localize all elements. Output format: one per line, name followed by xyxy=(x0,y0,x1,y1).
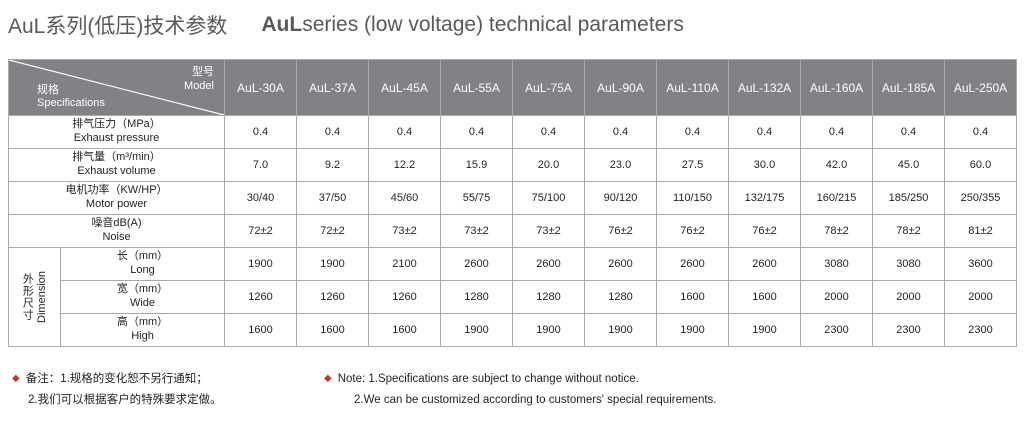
cell-value: 0.4 xyxy=(873,116,945,149)
cell-value: 45.0 xyxy=(873,149,945,182)
cell-value: 0.4 xyxy=(513,116,585,149)
cell-value: 1900 xyxy=(441,314,513,347)
cell-value: 1600 xyxy=(729,281,801,314)
cell-value: 1900 xyxy=(729,314,801,347)
row-label-width: 宽（mm） Wide xyxy=(61,281,225,314)
cell-value: 20.0 xyxy=(513,149,585,182)
cell-value: 2600 xyxy=(729,248,801,281)
column-header-model: AuL-45A xyxy=(369,60,441,116)
cell-value: 1900 xyxy=(657,314,729,347)
column-header-model: AuL-250A xyxy=(945,60,1017,116)
cell-value: 72±2 xyxy=(297,215,369,248)
cell-value: 1260 xyxy=(225,281,297,314)
cell-value: 30/40 xyxy=(225,182,297,215)
cell-value: 12.2 xyxy=(369,149,441,182)
spec-table: 型号 Model 规格 Specifications AuL-30A AuL-3… xyxy=(8,59,1017,347)
cell-value: 1900 xyxy=(297,248,369,281)
column-header-model: AuL-185A xyxy=(873,60,945,116)
note-line: ◆ Note: 1.Specifications are subject to … xyxy=(324,369,1014,390)
cell-value: 73±2 xyxy=(513,215,585,248)
table-body: 排气压力（MPa） Exhaust pressure 0.4 0.4 0.4 0… xyxy=(9,116,1017,347)
cell-value: 2600 xyxy=(513,248,585,281)
cell-value: 72±2 xyxy=(225,215,297,248)
page-root: AuL系列(低压)技术参数 AuLseries (low voltage) te… xyxy=(0,0,1024,431)
notes-chinese: ◆ 备注：1.规格的变化恕不另行通知； 2.我们可以根据客户的特殊要求定做。 xyxy=(12,369,312,412)
bullet-icon: ◆ xyxy=(12,369,20,388)
page-title-en: AuLseries (low voltage) technical parame… xyxy=(261,13,684,37)
cell-value: 110/150 xyxy=(657,182,729,215)
cell-value: 2100 xyxy=(369,248,441,281)
column-header-model: AuL-55A xyxy=(441,60,513,116)
notes-english: ◆ Note: 1.Specifications are subject to … xyxy=(324,369,1014,412)
note-line: 2.我们可以根据客户的特殊要求定做。 xyxy=(12,390,312,411)
cell-value: 42.0 xyxy=(801,149,873,182)
table-row: 噪音dB(A) Noise 72±2 72±2 73±2 73±2 73±2 7… xyxy=(9,215,1017,248)
table-row: 排气压力（MPa） Exhaust pressure 0.4 0.4 0.4 0… xyxy=(9,116,1017,149)
page-title-en-rest: series (low voltage) technical parameter… xyxy=(302,13,684,36)
table-header: 型号 Model 规格 Specifications AuL-30A AuL-3… xyxy=(9,60,1017,116)
cell-value: 76±2 xyxy=(585,215,657,248)
cell-value: 1260 xyxy=(369,281,441,314)
cell-value: 9.2 xyxy=(297,149,369,182)
table-row: 高（mm） High 1600 1600 1600 1900 1900 1900… xyxy=(9,314,1017,347)
cell-value: 78±2 xyxy=(873,215,945,248)
cell-value: 30.0 xyxy=(729,149,801,182)
cell-value: 75/100 xyxy=(513,182,585,215)
cell-value: 0.4 xyxy=(729,116,801,149)
cell-value: 1600 xyxy=(297,314,369,347)
cell-value: 45/60 xyxy=(369,182,441,215)
cell-value: 3600 xyxy=(945,248,1017,281)
row-label-exhaust-volume: 排气量（m³/min） Exhaust volume xyxy=(9,149,225,182)
cell-value: 2300 xyxy=(945,314,1017,347)
column-header-model: AuL-30A xyxy=(225,60,297,116)
spec-table-wrap: 型号 Model 规格 Specifications AuL-30A AuL-3… xyxy=(8,59,1016,347)
cell-value: 90/120 xyxy=(585,182,657,215)
cell-value: 132/175 xyxy=(729,182,801,215)
cell-value: 15.9 xyxy=(441,149,513,182)
row-label-exhaust-pressure: 排气压力（MPa） Exhaust pressure xyxy=(9,116,225,149)
cell-value: 3080 xyxy=(801,248,873,281)
cell-value: 1280 xyxy=(513,281,585,314)
cell-value: 23.0 xyxy=(585,149,657,182)
column-header-model: AuL-75A xyxy=(513,60,585,116)
cell-value: 55/75 xyxy=(441,182,513,215)
note-line: ◆ 备注：1.规格的变化恕不另行通知； xyxy=(12,369,312,390)
cell-value: 2000 xyxy=(873,281,945,314)
row-label-motor-power: 电机功率（KW/HP） Motor power xyxy=(9,182,225,215)
cell-value: 81±2 xyxy=(945,215,1017,248)
cell-value: 3080 xyxy=(873,248,945,281)
cell-value: 1600 xyxy=(369,314,441,347)
column-header-model: AuL-110A xyxy=(657,60,729,116)
cell-value: 1600 xyxy=(225,314,297,347)
cell-value: 60.0 xyxy=(945,149,1017,182)
row-label-height: 高（mm） High xyxy=(61,314,225,347)
cell-value: 27.5 xyxy=(657,149,729,182)
cell-value: 0.4 xyxy=(585,116,657,149)
column-header-model: AuL-132A xyxy=(729,60,801,116)
bullet-icon: ◆ xyxy=(324,369,332,388)
cell-value: 0.4 xyxy=(369,116,441,149)
table-row: 宽（mm） Wide 1260 1260 1260 1280 1280 1280… xyxy=(9,281,1017,314)
column-header-model: AuL-160A xyxy=(801,60,873,116)
table-row: 电机功率（KW/HP） Motor power 30/40 37/50 45/6… xyxy=(9,182,1017,215)
cell-value: 0.4 xyxy=(225,116,297,149)
cell-value: 1260 xyxy=(297,281,369,314)
cell-value: 1900 xyxy=(513,314,585,347)
cell-value: 1280 xyxy=(585,281,657,314)
cell-value: 2600 xyxy=(585,248,657,281)
page-title-cn: AuL系列(低压)技术参数 xyxy=(8,10,227,40)
cell-value: 0.4 xyxy=(657,116,729,149)
cell-value: 37/50 xyxy=(297,182,369,215)
column-header-model: AuL-90A xyxy=(585,60,657,116)
cell-value: 1600 xyxy=(657,281,729,314)
cell-value: 1900 xyxy=(225,248,297,281)
cell-value: 73±2 xyxy=(369,215,441,248)
cell-value: 76±2 xyxy=(729,215,801,248)
cell-value: 2300 xyxy=(873,314,945,347)
cell-value: 0.4 xyxy=(441,116,513,149)
cell-value: 0.4 xyxy=(945,116,1017,149)
cell-value: 250/355 xyxy=(945,182,1017,215)
cell-value: 0.4 xyxy=(801,116,873,149)
cell-value: 185/250 xyxy=(873,182,945,215)
cell-value: 2600 xyxy=(657,248,729,281)
cell-value: 2600 xyxy=(441,248,513,281)
cell-value: 73±2 xyxy=(441,215,513,248)
page-title: AuL系列(低压)技术参数 AuLseries (low voltage) te… xyxy=(8,8,1016,42)
page-title-en-lead: AuL xyxy=(261,13,302,36)
cell-value: 160/215 xyxy=(801,182,873,215)
cell-value: 76±2 xyxy=(657,215,729,248)
cell-value: 1280 xyxy=(441,281,513,314)
row-label-noise: 噪音dB(A) Noise xyxy=(9,215,225,248)
cell-value: 1900 xyxy=(585,314,657,347)
cell-value: 0.4 xyxy=(297,116,369,149)
cell-value: 2000 xyxy=(801,281,873,314)
corner-spec-label: 规格 Specifications xyxy=(37,84,105,112)
cell-value: 2000 xyxy=(945,281,1017,314)
table-row: 排气量（m³/min） Exhaust volume 7.0 9.2 12.2 … xyxy=(9,149,1017,182)
table-row: 外形尺寸 Dimension 长（mm） Long 1900 1900 2100… xyxy=(9,248,1017,281)
cell-value: 7.0 xyxy=(225,149,297,182)
column-header-model: AuL-37A xyxy=(297,60,369,116)
table-corner-header: 型号 Model 规格 Specifications xyxy=(9,60,225,116)
note-line: 2.We can be customized according to cust… xyxy=(324,390,1014,411)
row-label-length: 长（mm） Long xyxy=(61,248,225,281)
cell-value: 2300 xyxy=(801,314,873,347)
cell-value: 78±2 xyxy=(801,215,873,248)
corner-model-label: 型号 Model xyxy=(184,66,214,94)
row-label-dimension: 外形尺寸 Dimension xyxy=(9,248,61,347)
